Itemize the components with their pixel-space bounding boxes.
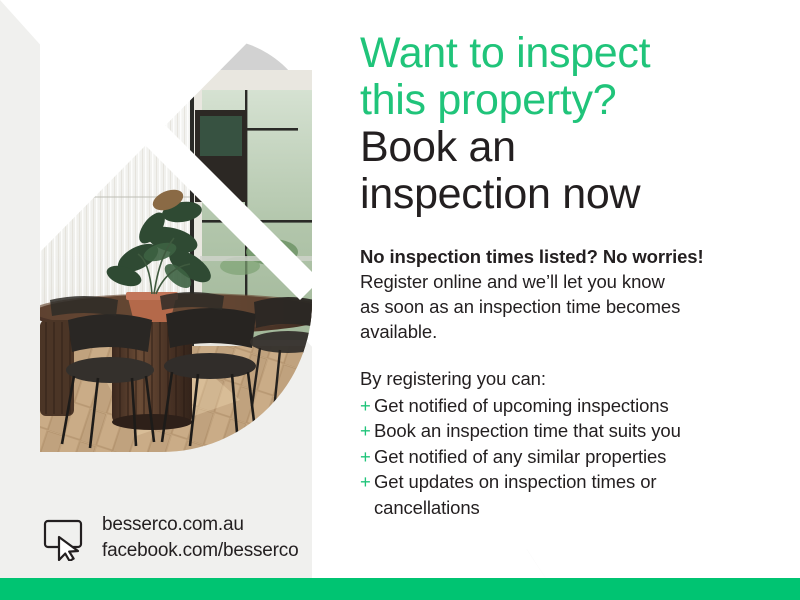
footer-green-bar [0, 578, 800, 600]
list-item: + Book an inspection time that suits you [360, 418, 780, 444]
headline-line-2: this property? [360, 77, 780, 124]
cursor-click-icon [42, 515, 88, 561]
body-paragraph: No inspection times listed? No worries! … [360, 244, 780, 344]
list-item-label-wrap: cancellations [374, 495, 780, 521]
body-line-3: available. [360, 319, 780, 344]
inspection-booking-poster: Want to inspect this property? Book an i… [0, 0, 800, 600]
contact-links: besserco.com.au facebook.com/besserco [102, 512, 298, 564]
plus-icon: + [360, 393, 371, 419]
dining-room-illustration [40, 70, 312, 452]
plus-icon: + [360, 469, 371, 495]
benefits-section: By registering you can: + Get notified o… [360, 366, 780, 520]
list-item-label: Book an inspection time that suits you [374, 418, 780, 444]
list-item: + Get notified of upcoming inspections [360, 393, 780, 419]
headline-line-1: Want to inspect [360, 30, 780, 77]
list-item-label: Get notified of any similar properties [374, 444, 780, 470]
text-column: Want to inspect this property? Book an i… [360, 30, 780, 520]
website-link[interactable]: besserco.com.au [102, 512, 298, 538]
list-item: + Get updates on inspection times or can… [360, 469, 780, 520]
body-line-2: as soon as an inspection time becomes [360, 294, 780, 319]
page-title: Want to inspect this property? Book an i… [360, 30, 780, 218]
list-item-label: Get notified of upcoming inspections [374, 393, 780, 419]
facebook-link[interactable]: facebook.com/besserco [102, 538, 298, 564]
headline-line-4: inspection now [360, 171, 780, 218]
benefits-list: + Get notified of upcoming inspections +… [360, 393, 780, 521]
body-lead-line: No inspection times listed? No worries! [360, 244, 780, 269]
plus-icon: + [360, 418, 371, 444]
list-item: + Get notified of any similar properties [360, 444, 780, 470]
list-item-label: Get updates on inspection times or [374, 469, 780, 495]
body-line-1: Register online and we’ll let you know [360, 269, 780, 294]
headline-line-3: Book an [360, 124, 780, 171]
footer-contact: besserco.com.au facebook.com/besserco [42, 512, 298, 564]
property-photo [40, 70, 312, 452]
benefits-intro: By registering you can: [360, 366, 780, 392]
plus-icon: + [360, 444, 371, 470]
